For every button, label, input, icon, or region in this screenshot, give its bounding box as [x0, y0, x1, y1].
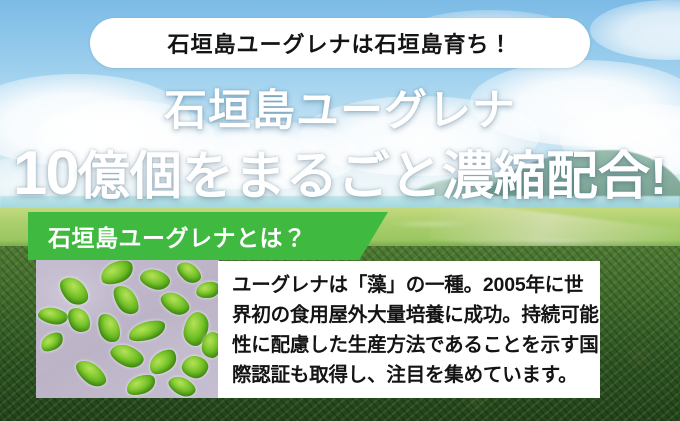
headline-line-2: 10億個をまるごと濃縮配合!	[0, 134, 680, 209]
description-panel-inner: ユーグレナは「藻」の一種。2005年に世 界初の食用屋外大量培養に成功。持続可能…	[218, 270, 600, 390]
description-line: 際認証も取得し、注目を集めています。	[232, 360, 588, 390]
euglena-promo-banner: 石垣島ユーグレナは石垣島育ち！ 石垣島ユーグレナ 10億個をまるごと濃縮配合! …	[0, 0, 680, 421]
tagline-pill-badge: 石垣島ユーグレナは石垣島育ち！	[90, 18, 590, 68]
microscope-photo	[36, 260, 219, 398]
section-label-text: 石垣島ユーグレナとは？	[48, 219, 307, 253]
section-label-banner: 石垣島ユーグレナとは？	[28, 212, 388, 260]
headline-number: 10	[13, 139, 78, 208]
tagline-text: 石垣島ユーグレナは石垣島育ち！	[167, 27, 512, 59]
description-line: 界初の食用屋外大量培養に成功。持続可能	[232, 300, 588, 330]
description-line: 性に配慮した生産方法であることを示す国	[232, 330, 588, 360]
headline-line-1: 石垣島ユーグレナ	[0, 76, 680, 138]
headline-line-2-text: 億個をまるごと濃縮配合!	[78, 148, 667, 206]
description-panel: ユーグレナは「藻」の一種。2005年に世 界初の食用屋外大量培養に成功。持続可能…	[218, 261, 600, 398]
description-line: ユーグレナは「藻」の一種。2005年に世	[232, 270, 588, 300]
